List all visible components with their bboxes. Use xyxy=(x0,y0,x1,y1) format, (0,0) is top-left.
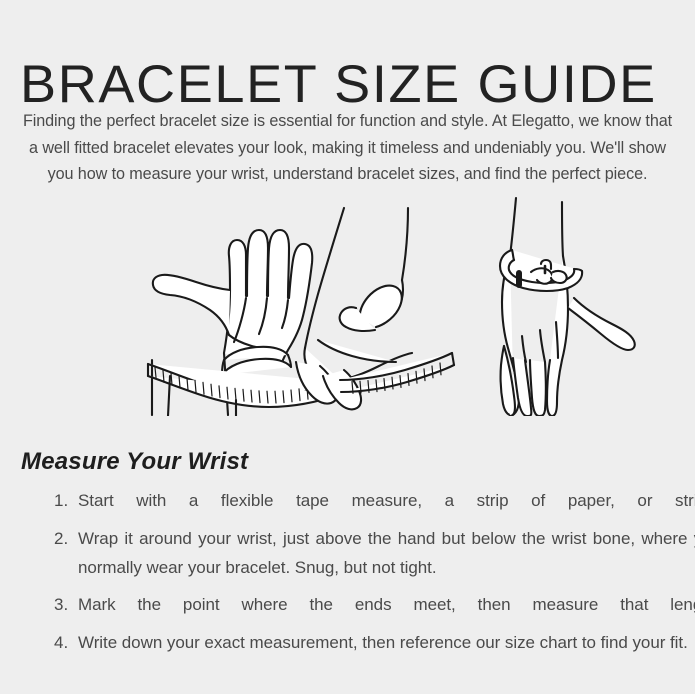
bracelet-size-guide-page: BRACELET SIZE GUIDE Finding the perfect … xyxy=(0,0,695,694)
step-number: 1. xyxy=(54,486,78,515)
page-title: BRACELET SIZE GUIDE xyxy=(20,56,688,114)
step-number: 4. xyxy=(54,628,78,657)
step-number: 3. xyxy=(54,590,78,619)
step-text: Start with a flexible tape measure, a st… xyxy=(78,486,695,515)
step-text: Write down your exact measurement, then … xyxy=(78,628,695,657)
list-item: 2. Wrap it around your wrist, just above… xyxy=(54,524,695,582)
wrist-measurement-illustration xyxy=(0,190,695,416)
list-item: 3. Mark the point where the ends meet, t… xyxy=(54,590,695,619)
list-item: 4. Write down your exact measurement, th… xyxy=(54,628,695,657)
step-text: Mark the point where the ends meet, then… xyxy=(78,590,695,619)
measure-your-wrist-heading: Measure Your Wrist xyxy=(21,448,248,476)
step-number: 2. xyxy=(54,524,78,553)
step-text: Wrap it around your wrist, just above th… xyxy=(78,524,695,582)
hand-wearing-bracelet-icon xyxy=(500,198,635,416)
list-item: 1. Start with a flexible tape measure, a… xyxy=(54,486,695,515)
measure-steps-list: 1. Start with a flexible tape measure, a… xyxy=(14,486,695,665)
hand-holding-tape-icon xyxy=(296,208,454,409)
intro-paragraph: Finding the perfect bracelet size is ess… xyxy=(18,108,677,188)
